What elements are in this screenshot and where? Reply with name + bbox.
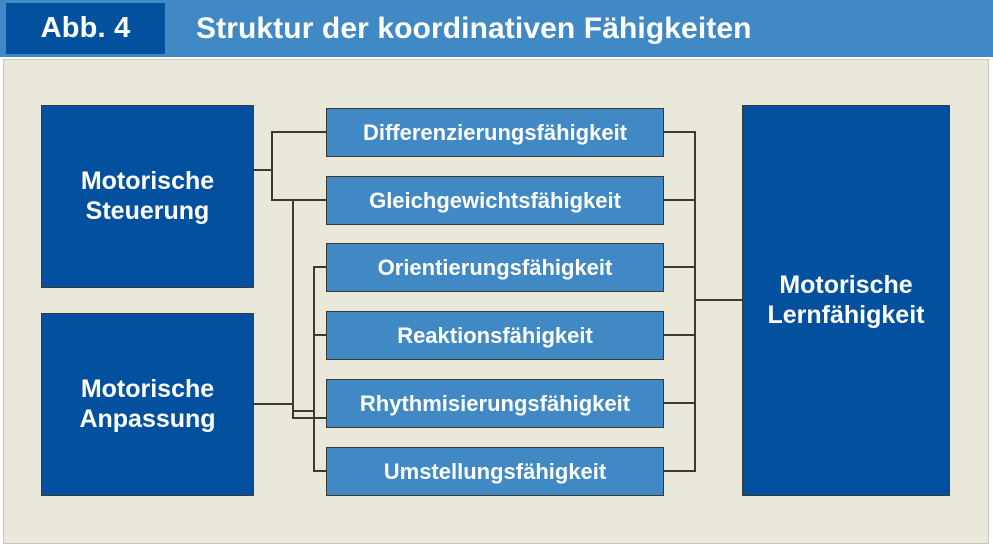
figure-title-label: Struktur der koordinativen Fähigkeiten xyxy=(196,14,752,44)
figure-container: Abb. 4 Struktur der koordinativen Fähigk… xyxy=(0,0,993,547)
ability-box-label: Umstellungsfähigkeit xyxy=(378,459,612,485)
ability-box-label: Differenzierungsfähigkeit xyxy=(357,120,633,146)
ability-box-label: Rhythmisierungsfähigkeit xyxy=(354,391,636,417)
figure-header-bar: Abb. 4 Struktur der koordinativen Fähigk… xyxy=(0,0,993,57)
output-box-motorische-lernfaehigkeit[interactable]: Motorische Lernfähigkeit xyxy=(742,105,950,496)
ability-box-orientierungsfaehigkeit[interactable]: Orientierungsfähigkeit xyxy=(326,243,664,292)
output-box-label: Motorische Lernfähigkeit xyxy=(762,271,931,330)
input-box-motorische-anpassung[interactable]: Motorische Anpassung xyxy=(41,313,254,496)
ability-box-gleichgewichtsfaehigkeit[interactable]: Gleichgewichtsfähigkeit xyxy=(326,176,664,225)
figure-title: Struktur der koordinativen Fähigkeiten xyxy=(196,0,752,57)
ability-box-label: Reaktionsfähigkeit xyxy=(391,323,599,349)
ability-box-rhythmisierungsfaehigkeit[interactable]: Rhythmisierungsfähigkeit xyxy=(326,379,664,428)
ability-box-label: Orientierungsfähigkeit xyxy=(372,255,619,281)
input-box-label: Motorische Steuerung xyxy=(75,167,220,226)
ability-box-reaktionsfaehigkeit[interactable]: Reaktionsfähigkeit xyxy=(326,311,664,360)
input-box-motorische-steuerung[interactable]: Motorische Steuerung xyxy=(41,105,254,288)
ability-box-umstellungsfaehigkeit[interactable]: Umstellungsfähigkeit xyxy=(326,447,664,496)
figure-number-label: Abb. 4 xyxy=(41,14,131,43)
ability-box-differenzierungsfaehigkeit[interactable]: Differenzierungsfähigkeit xyxy=(326,108,664,157)
input-box-label: Motorische Anpassung xyxy=(73,375,221,434)
ability-box-label: Gleichgewichtsfähigkeit xyxy=(363,188,627,214)
figure-number-badge: Abb. 4 xyxy=(6,3,165,54)
